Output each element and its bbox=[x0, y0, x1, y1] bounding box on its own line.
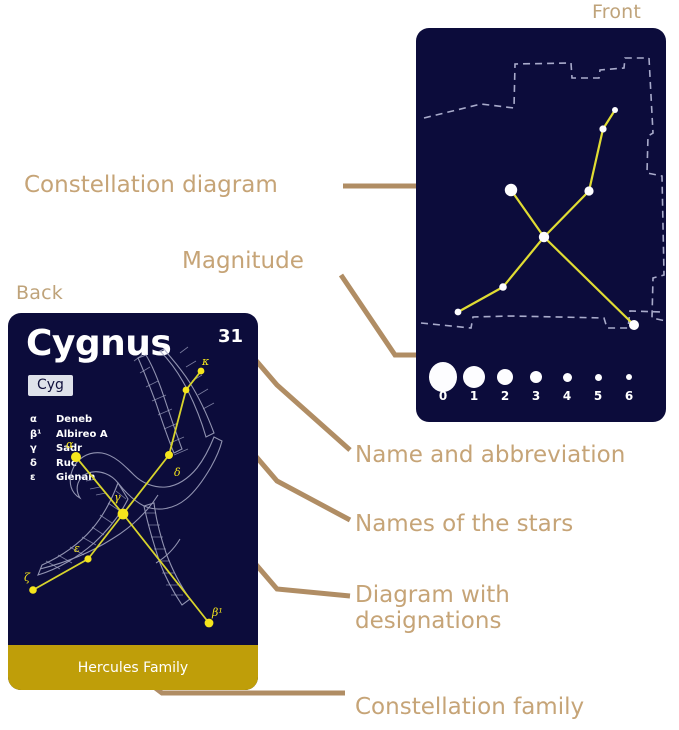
constellation-family-banner: Hercules Family bbox=[8, 645, 258, 690]
desig-star-beta bbox=[205, 619, 214, 628]
magnitude-dot bbox=[563, 373, 572, 382]
callout-constellation-diagram: Constellation diagram bbox=[24, 172, 278, 198]
star-albireo bbox=[629, 320, 639, 330]
desig-label-alpha: α bbox=[66, 438, 74, 451]
line-eta-zeta bbox=[458, 287, 503, 312]
back-card[interactable]: Cygnus 31 Cyg αDenebβ¹Albireo AγSadrδRuc… bbox=[8, 313, 258, 690]
magnitude-scale: 0123456 bbox=[416, 362, 666, 414]
callout-magnitude: Magnitude bbox=[182, 248, 304, 274]
line-delta-epsilon bbox=[589, 129, 603, 191]
boundary-right bbox=[647, 58, 666, 321]
desig-star-gamma bbox=[118, 509, 129, 520]
callout-constellation-family: Constellation family bbox=[355, 694, 584, 720]
magnitude-step: 2 bbox=[491, 368, 519, 403]
star-delta bbox=[599, 125, 606, 132]
desig-star-zeta bbox=[29, 586, 37, 594]
star-gienah bbox=[584, 186, 593, 195]
magnitude-label: 5 bbox=[584, 389, 612, 403]
star-kappa bbox=[612, 107, 618, 113]
line-gamma-delta bbox=[544, 191, 589, 237]
family-banner-label: Hercules Family bbox=[78, 660, 188, 676]
swan-designation-diagram: κ α δ γ ε ζ β¹ bbox=[8, 313, 258, 690]
desig-label-zeta: ζ bbox=[24, 571, 31, 584]
magnitude-label: 6 bbox=[615, 389, 643, 403]
desig-label-beta: β¹ bbox=[211, 606, 223, 619]
illustration-canvas: Front Back bbox=[0, 0, 679, 730]
magnitude-step: 0 bbox=[429, 368, 457, 403]
magnitude-dot bbox=[497, 369, 513, 385]
desig-label-kappa: κ bbox=[201, 355, 210, 368]
magnitude-label: 4 bbox=[553, 389, 581, 403]
magnitude-step: 5 bbox=[584, 368, 612, 403]
star-sadr bbox=[539, 232, 549, 242]
line-alpha-gamma bbox=[511, 190, 544, 237]
magnitude-step: 6 bbox=[615, 368, 643, 403]
magnitude-label: 0 bbox=[429, 389, 457, 403]
magnitude-step: 3 bbox=[522, 368, 550, 403]
magnitude-label: 1 bbox=[460, 389, 488, 403]
desig-label-delta: δ bbox=[174, 466, 181, 479]
swan-neck bbox=[70, 437, 222, 509]
desig-star-delta bbox=[165, 451, 173, 459]
desig-star-kappa bbox=[198, 368, 205, 375]
star-zeta bbox=[455, 309, 462, 316]
magnitude-step: 4 bbox=[553, 368, 581, 403]
line-gamma-eta bbox=[503, 237, 544, 287]
desig-label-gamma: γ bbox=[114, 491, 121, 504]
callout-diagram-with-designations: Diagram with designations bbox=[355, 582, 585, 634]
callout-names-of-the-stars: Names of the stars bbox=[355, 511, 573, 537]
magnitude-dot bbox=[463, 366, 485, 388]
line-gamma-beta bbox=[544, 237, 634, 325]
magnitude-dot bbox=[595, 374, 602, 381]
magnitude-label: 3 bbox=[522, 389, 550, 403]
magnitude-label: 2 bbox=[491, 389, 519, 403]
front-view-label: Front bbox=[592, 1, 641, 23]
back-view-label: Back bbox=[16, 282, 63, 304]
desig-line-alpha-gamma bbox=[76, 457, 123, 514]
desig-line-delta-epsilon bbox=[169, 390, 186, 455]
desig-line-gamma-beta bbox=[123, 514, 209, 623]
star-deneb bbox=[505, 184, 517, 196]
desig-line-gamma-eta bbox=[88, 514, 123, 559]
magnitude-dot bbox=[626, 374, 632, 380]
front-card[interactable]: 0123456 bbox=[416, 28, 666, 422]
magnitude-dot bbox=[429, 362, 457, 392]
magnitude-step: 1 bbox=[460, 368, 488, 403]
desig-label-epsilon: ε bbox=[74, 542, 80, 555]
desig-star-epsilon-node bbox=[183, 387, 190, 394]
star-eta bbox=[499, 283, 507, 291]
desig-star-eta bbox=[84, 555, 91, 562]
callout-name-and-abbreviation: Name and abbreviation bbox=[355, 442, 625, 468]
magnitude-dot bbox=[530, 371, 542, 383]
desig-star-alpha bbox=[71, 452, 81, 462]
